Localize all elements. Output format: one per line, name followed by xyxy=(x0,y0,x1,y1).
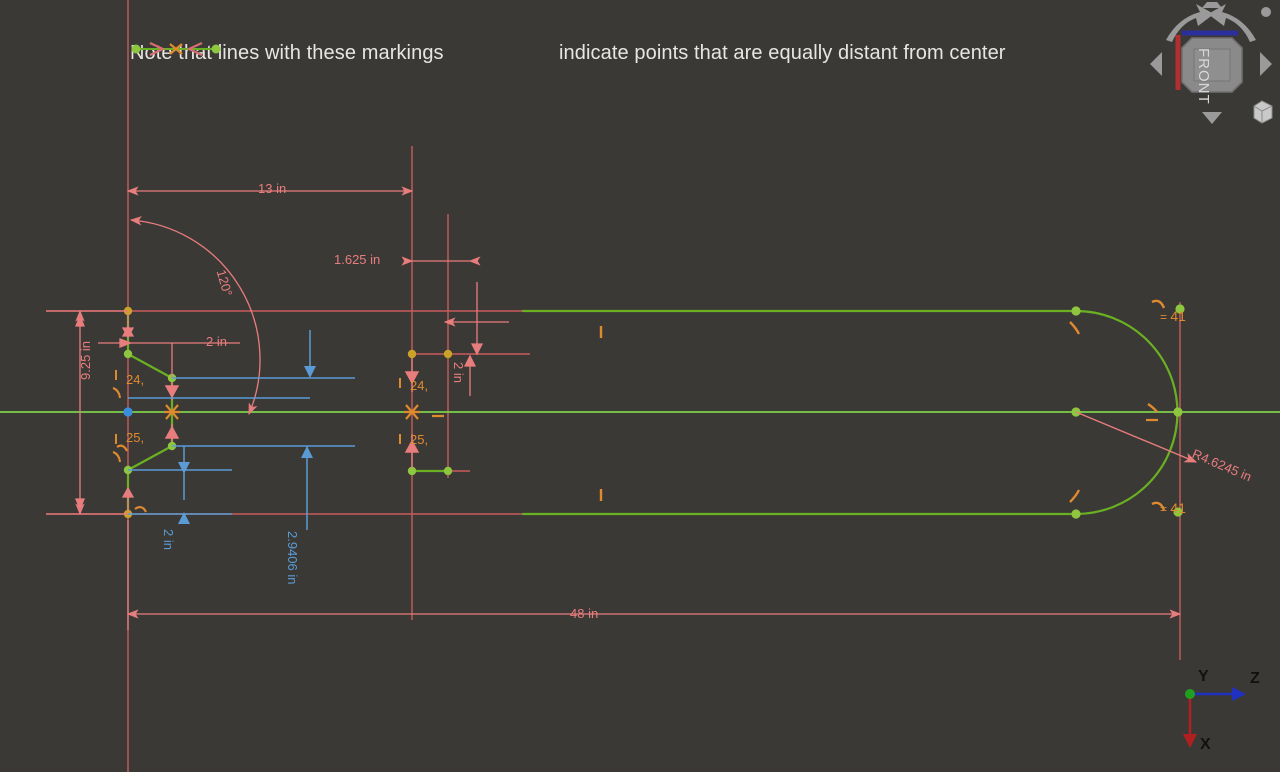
construction-lines xyxy=(128,0,1180,772)
note-suffix: indicate points that are equally distant… xyxy=(559,42,1006,64)
constraint-label-41-top[interactable]: = 41 xyxy=(1160,308,1186,324)
driven-dimensions[interactable] xyxy=(128,330,355,530)
view-options-dot xyxy=(1261,7,1271,17)
driven-label-2in[interactable]: 2 in xyxy=(161,529,176,550)
axis-label-x: X xyxy=(1200,736,1211,754)
dimension-angle-120[interactable] xyxy=(131,220,260,414)
axis-label-y: Y xyxy=(1198,668,1209,686)
pan-right-arrow xyxy=(1260,52,1272,76)
cube-face-label: FRONT xyxy=(1195,48,1212,105)
rotate-ccw-arrow xyxy=(1166,4,1214,42)
x-axis-arrow xyxy=(1183,734,1197,748)
constraint-label-24-left[interactable]: 24, xyxy=(126,372,144,387)
pan-down-arrow xyxy=(1202,112,1222,124)
axis-label-z: Z xyxy=(1250,670,1260,688)
sketch-profile[interactable] xyxy=(0,311,1280,514)
driven-dimension-arrows xyxy=(178,366,316,524)
equal-distance-marker-icon xyxy=(455,47,547,61)
pan-left-arrow xyxy=(1150,52,1162,76)
origin-point xyxy=(1185,689,1195,699)
sketch-geometry xyxy=(0,0,1280,772)
driven-label-29406in[interactable]: 2.9406 in xyxy=(285,531,300,585)
cad-sketch-canvas[interactable]: 13 in 1.625 in 120° 2 in 9.25 in 2 in 48… xyxy=(0,0,1280,772)
constraint-label-24-mid[interactable]: 24, xyxy=(410,378,428,393)
constraint-label-41-bottom[interactable]: = 41 xyxy=(1160,500,1186,516)
pan-up-arrow xyxy=(1202,2,1222,8)
constraint-label-25-mid[interactable]: 25, xyxy=(410,432,428,447)
z-axis-arrow xyxy=(1232,687,1246,701)
dimension-label-2in-left[interactable]: 2 in xyxy=(206,334,227,349)
constraint-glyphs[interactable] xyxy=(113,301,1164,512)
dimension-2in-mid-arrows xyxy=(465,282,482,396)
view-cube[interactable]: FRONT xyxy=(1146,2,1276,128)
constraint-label-25-left[interactable]: 25, xyxy=(126,430,144,445)
dimension-label-2in-mid[interactable]: 2 in xyxy=(451,362,466,383)
dimension-label-1625in[interactable]: 1.625 in xyxy=(334,252,380,267)
cube-face-front xyxy=(1182,38,1242,92)
constraint-41-bottom-value: 41 xyxy=(1170,500,1186,516)
dimension-label-13in[interactable]: 13 in xyxy=(258,181,286,196)
constraint-41-top-value: 41 xyxy=(1170,308,1186,324)
dimension-label-48in[interactable]: 48 in xyxy=(570,606,598,621)
rotate-cw-arrow xyxy=(1208,4,1256,42)
dimension-label-925in[interactable]: 9.25 in xyxy=(78,341,93,380)
axis-triad: Y Z X xyxy=(1174,672,1270,764)
note-annotation: Note that lines with these markings indi… xyxy=(130,42,1006,65)
home-cube-icon xyxy=(1254,101,1272,123)
